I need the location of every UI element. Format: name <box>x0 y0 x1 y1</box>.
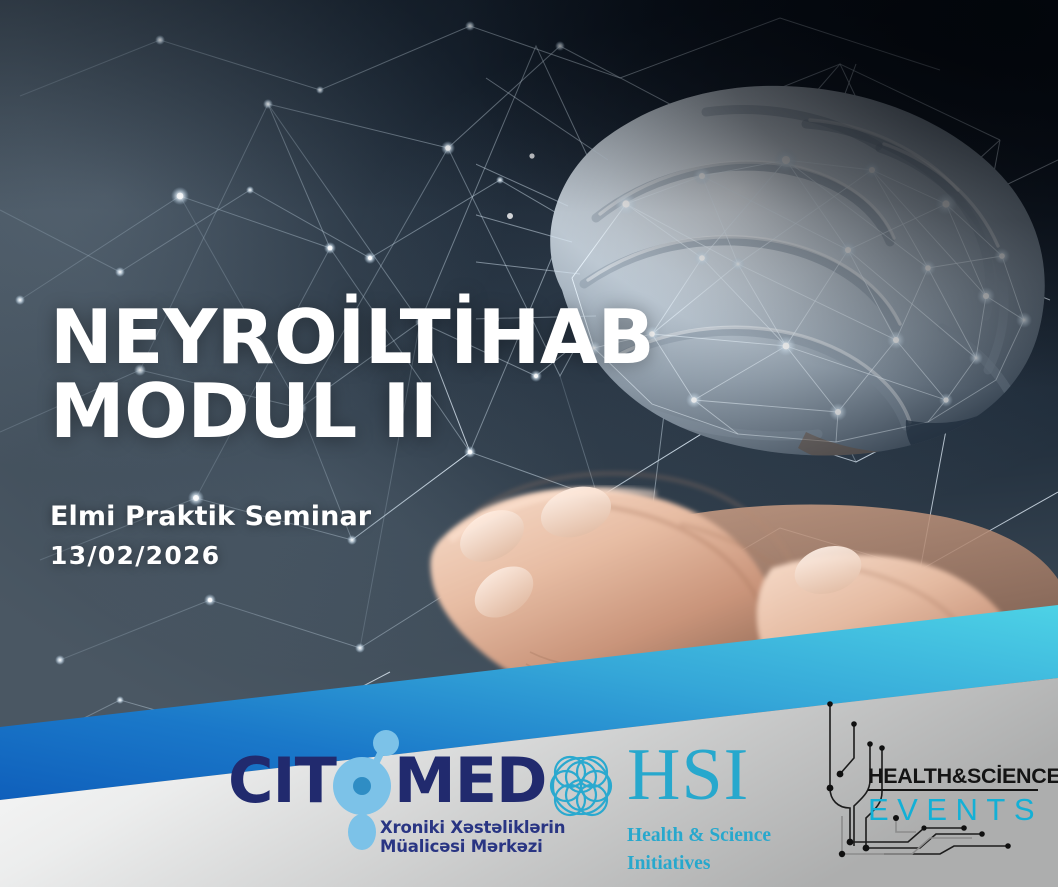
page-title: NEYROİLTİHAB MODUL II <box>50 300 710 449</box>
event-subtitle: Elmi Praktik Seminar <box>50 501 710 532</box>
citomed-word-left: CIT <box>228 750 336 812</box>
citomed-wordmark: CIT MED <box>228 752 528 824</box>
hse-line-top: HEALTH&SCİENCE <box>868 764 1038 788</box>
citomed-tagline: Xroniki Xəstəliklərin Müalicəsi Mərkəzi <box>380 818 565 856</box>
logo-health-science-events[interactable]: HEALTH&SCİENCE EVENTS <box>812 696 1042 866</box>
logo-row: CIT MED Xroniki Xəstəliklərin Müalicəsi … <box>0 690 1058 887</box>
title-line-2: MODUL II <box>50 374 710 448</box>
logo-hsi[interactable]: HSI Health & Science Initiatives <box>545 748 785 873</box>
hse-divider <box>868 789 1038 791</box>
poster-root: NEYROİLTİHAB MODUL II Elmi Praktik Semin… <box>0 0 1058 887</box>
flower-of-life-icon <box>545 752 617 826</box>
citomed-word-right: MED <box>394 750 547 812</box>
hsi-tagline-line-2: Initiatives <box>627 850 771 878</box>
logo-citomed[interactable]: CIT MED Xroniki Xəstəliklərin Müalicəsi … <box>228 752 528 867</box>
hsi-tagline: Health & Science Initiatives <box>627 822 771 879</box>
hsi-tagline-line-1: Health & Science <box>627 822 771 850</box>
hsi-acronym: HSI <box>627 738 749 812</box>
health-science-events-wordmark: HEALTH&SCİENCE EVENTS <box>868 764 1038 827</box>
hero-copy: NEYROİLTİHAB MODUL II Elmi Praktik Semin… <box>50 300 710 570</box>
hse-line-bottom: EVENTS <box>868 793 1038 826</box>
citomed-tagline-line-1: Xroniki Xəstəliklərin <box>380 818 565 837</box>
citomed-tagline-line-2: Müalicəsi Mərkəzi <box>380 837 565 856</box>
